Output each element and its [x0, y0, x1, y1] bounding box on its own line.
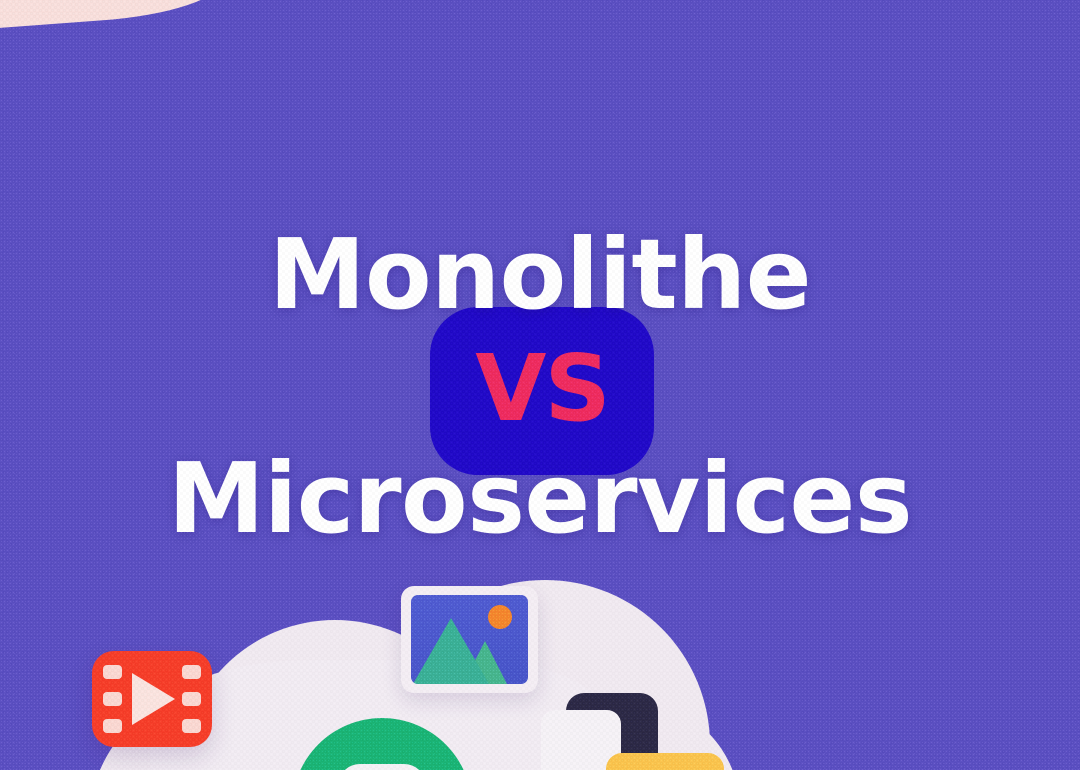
- vs-badge-label: VS: [475, 343, 608, 435]
- image-photo-icon: [401, 586, 538, 693]
- film-sprocket-hole: [182, 692, 201, 706]
- play-triangle-icon: [132, 673, 175, 725]
- film-sprocket-hole: [103, 719, 122, 733]
- sun-icon: [488, 605, 512, 629]
- video-film-icon: [92, 651, 212, 747]
- mountain-front-shape: [413, 618, 489, 684]
- yellow-card: [606, 753, 724, 770]
- film-sprocket-hole: [182, 665, 201, 679]
- page-title-line-2: Microservices: [0, 450, 1080, 547]
- photo-thumbnail: [411, 595, 528, 684]
- film-sprocket-hole: [103, 692, 122, 706]
- green-circle-inner-shape: [338, 764, 426, 770]
- poster-canvas: Monolithe VS Microservices: [0, 0, 1080, 770]
- film-sprocket-hole: [103, 665, 122, 679]
- pink-corner-accent: [0, 0, 223, 28]
- page-title-line-1: Monolithe: [0, 226, 1080, 323]
- film-sprocket-hole: [182, 719, 201, 733]
